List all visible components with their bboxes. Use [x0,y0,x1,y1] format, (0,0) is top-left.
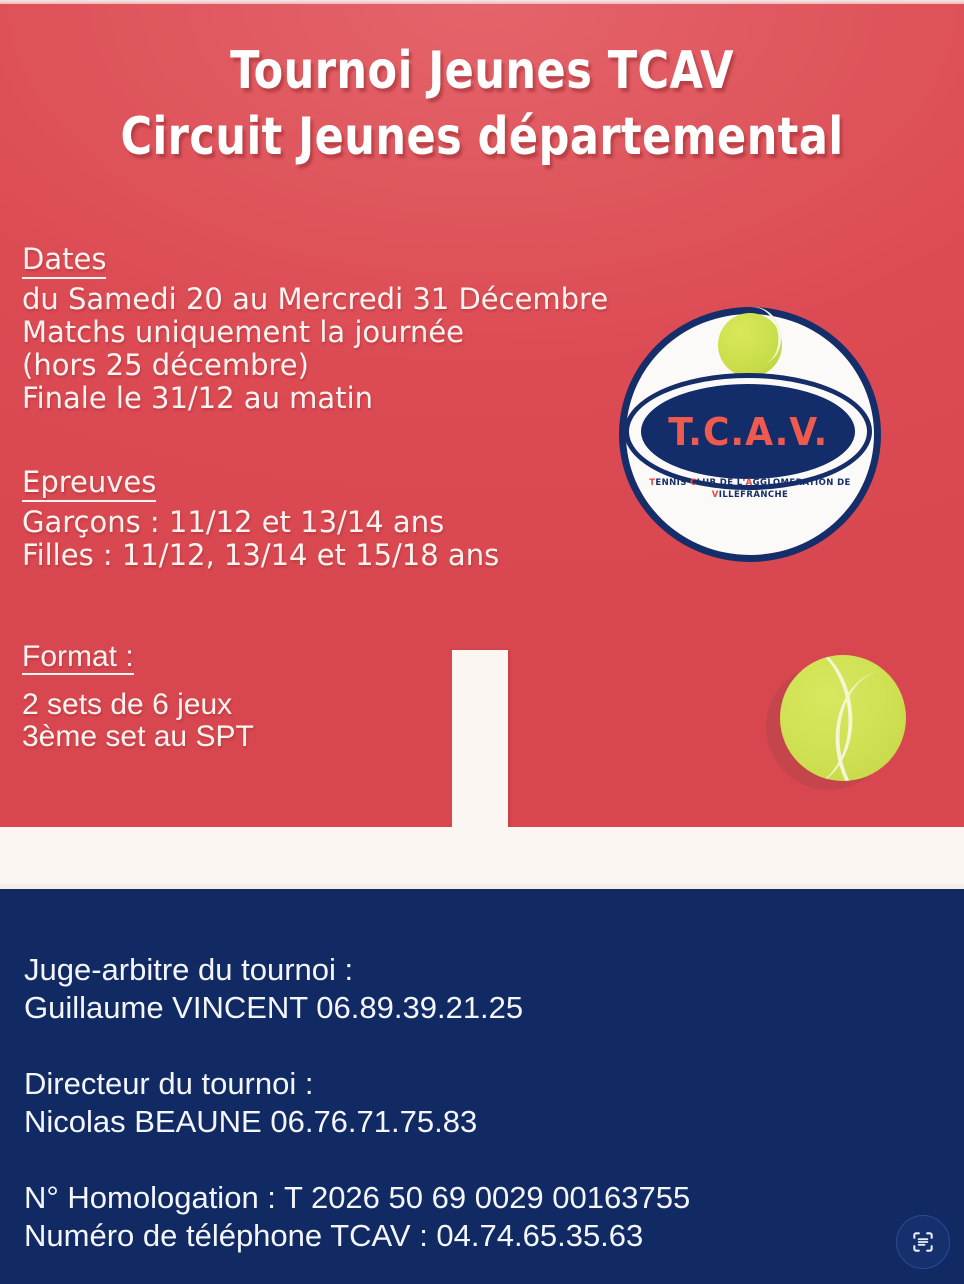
juge-arbitre-label: Juge-arbitre du tournoi : [24,951,523,989]
section-dates: Dates du Samedi 20 au Mercredi 31 Décemb… [22,243,608,415]
logo-caption-1e: A [746,478,753,488]
logo-caption-1f: GGLOMERATION DE [753,478,851,488]
format-line-1: 2 sets de 6 jeux [22,689,254,721]
section-format: Format : 2 sets de 6 jeux 3ème set au SP… [22,641,254,753]
juge-arbitre-value: Guillaume VINCENT 06.89.39.21.25 [24,989,523,1027]
logo-band: T.C.A.V. [641,384,855,479]
scan-text-icon [910,1229,936,1255]
contact-directeur: Directeur du tournoi : Nicolas BEAUNE 06… [24,1065,477,1141]
dates-line-4: Finale le 31/12 au matin [22,382,608,415]
dates-line-3: (hors 25 décembre) [22,349,608,382]
page-title: Tournoi Jeunes TCAV Circuit Jeunes dépar… [0,38,964,170]
telephone-line: Numéro de téléphone TCAV : 04.74.65.35.6… [24,1217,690,1255]
tennis-ball-body [780,655,906,781]
logo-caption-1d: LUB DE L' [697,478,746,488]
poster-root: Tournoi Jeunes TCAV Circuit Jeunes dépar… [0,0,964,1284]
logo-tennis-ball-icon [718,313,782,377]
directeur-label: Directeur du tournoi : [24,1065,477,1103]
logo-caption-1c: C [690,478,697,488]
logo-caption-2a: V [712,490,719,500]
logo-caption-2b: ILLEFRANCHE [719,490,788,500]
scan-text-button[interactable] [896,1215,950,1269]
title-line-2: Circuit Jeunes départemental [39,104,926,170]
logo-caption: TENNIS CLUB DE L'AGGLOMERATION DE VILLEF… [633,477,867,501]
tcav-logo: T.C.A.V. TENNIS CLUB DE L'AGGLOMERATION … [619,307,881,562]
contact-juge-arbitre: Juge-arbitre du tournoi : Guillaume VINC… [24,951,523,1027]
logo-caption-line-1: TENNIS CLUB DE L'AGGLOMERATION DE [633,477,867,489]
logo-initials: T.C.A.V. [668,410,828,454]
directeur-value: Nicolas BEAUNE 06.76.71.75.83 [24,1103,477,1141]
epreuves-line-2: Filles : 11/12, 13/14 et 15/18 ans [22,539,499,572]
white-middle-band [0,827,964,889]
format-heading: Format : [22,641,134,675]
contact-homologation: N° Homologation : T 2026 50 69 0029 0016… [24,1179,690,1255]
format-line-2: 3ème set au SPT [22,721,254,753]
dates-line-2: Matchs uniquement la journée [22,316,608,349]
dates-heading: Dates [22,243,106,279]
epreuves-heading: Epreuves [22,466,156,502]
epreuves-line-1: Garçons : 11/12 et 13/14 ans [22,506,499,539]
tennis-ball-icon [762,650,922,795]
logo-caption-line-2: VILLEFRANCHE [633,489,867,501]
net-post-shape [452,650,508,830]
dates-line-1: du Samedi 20 au Mercredi 31 Décembre [22,283,608,316]
title-line-1: Tournoi Jeunes TCAV [39,38,926,104]
section-epreuves: Epreuves Garçons : 11/12 et 13/14 ans Fi… [22,466,499,572]
logo-caption-1b: ENNIS [655,478,690,488]
homologation-line: N° Homologation : T 2026 50 69 0029 0016… [24,1179,690,1217]
